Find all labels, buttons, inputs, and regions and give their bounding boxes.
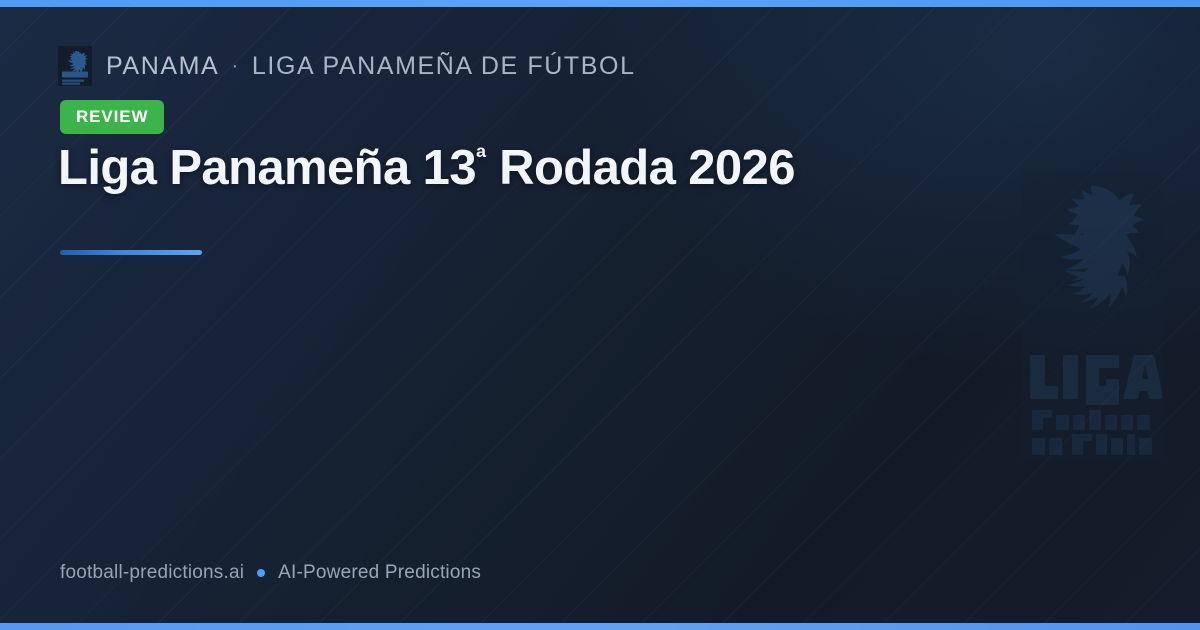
breadcrumb-separator: ·: [231, 54, 240, 78]
page-title-prefix: Liga Panameña 13: [58, 141, 476, 195]
page-title-ordinal: ª: [476, 142, 486, 173]
card-content: Panama · Liga Panameña de Fútbol REVIEW …: [0, 0, 1200, 630]
status-badge: REVIEW: [60, 100, 164, 134]
breadcrumb-league: Liga Panameña de Fútbol: [252, 52, 636, 81]
liga-panamena-de-futbol-crest-icon: [1022, 172, 1162, 462]
footer: football-predictions.ai AI-Powered Predi…: [60, 562, 481, 584]
breadcrumb-country: Panama: [106, 52, 219, 81]
footer-site-name: football-predictions.ai: [60, 562, 244, 584]
footer-tagline: AI-Powered Predictions: [278, 562, 481, 584]
breadcrumb: Panama · Liga Panameña de Fútbol: [58, 46, 636, 86]
blue-dot-icon: [257, 569, 265, 577]
page-title: Liga Panameña 13ª Rodada 2026: [58, 142, 998, 196]
liga-panamena-eagle-icon: [58, 46, 92, 86]
page-title-suffix: Rodada 2026: [486, 141, 795, 195]
share-card: Panama · Liga Panameña de Fútbol REVIEW …: [0, 0, 1200, 630]
title-underline: [60, 250, 202, 255]
